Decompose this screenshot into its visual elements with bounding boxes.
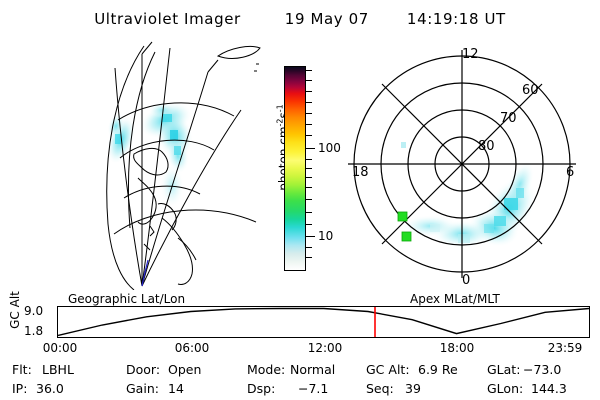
altitude-time-plot[interactable] bbox=[57, 306, 590, 338]
colorbar: photon cm-2s-1 100 10 bbox=[262, 66, 332, 286]
status-door-key: Door: bbox=[126, 362, 160, 377]
observation-time: 14:19:18 UT bbox=[407, 10, 506, 28]
status-door-value: Open bbox=[168, 362, 201, 377]
status-gain-key: Gain: bbox=[126, 381, 159, 396]
status-ip-value: 36.0 bbox=[36, 381, 64, 396]
status-filter-key: Flt: bbox=[12, 362, 32, 377]
status-glon-value: 144.3 bbox=[531, 381, 567, 396]
time-label-2: 12:00 bbox=[308, 341, 343, 355]
status-glon-key: GLon: bbox=[487, 381, 523, 396]
aurora-oval-layer bbox=[401, 142, 547, 253]
header-bar: Ultraviolet Imager 19 May 07 14:19:18 UT bbox=[0, 6, 600, 32]
colorbar-gradient[interactable] bbox=[284, 66, 306, 271]
mlat-label-80: 80 bbox=[478, 139, 495, 154]
status-row-1: Flt: LBHL Door: Open Mode: Normal GC Alt… bbox=[0, 362, 600, 381]
status-gcalt-key: GC Alt: bbox=[366, 362, 410, 377]
time-axis: 00:00 06:00 12:00 18:00 23:59 bbox=[0, 341, 600, 357]
instrument-title: Ultraviolet Imager bbox=[94, 10, 241, 28]
right-panel-title: Apex MLat/MLT bbox=[410, 292, 500, 306]
status-seq-key: Seq: bbox=[366, 381, 394, 396]
polar-svg: 12 18 6 0 60 70 80 bbox=[334, 38, 590, 290]
status-mode-value: Normal bbox=[290, 362, 335, 377]
observation-date: 19 May 07 bbox=[285, 10, 369, 28]
status-glat-value: −73.0 bbox=[523, 362, 561, 377]
mlt-label-12: 12 bbox=[462, 47, 479, 62]
status-ip-key: IP: bbox=[12, 381, 27, 396]
altitude-curve bbox=[58, 309, 589, 336]
mlat-label-60: 60 bbox=[522, 83, 539, 98]
apex-mlat-mlt-plot[interactable]: 12 18 6 0 60 70 80 bbox=[334, 38, 590, 290]
altitude-axis-label: GC Alt bbox=[8, 280, 22, 340]
mlt-label-6: 6 bbox=[566, 165, 574, 180]
mlt-label-0: 0 bbox=[462, 273, 470, 288]
status-gcalt-value: 6.9 Re bbox=[418, 362, 458, 377]
altitude-tick-low: 1.8 bbox=[24, 324, 43, 338]
status-gain-value: 14 bbox=[168, 381, 184, 396]
status-seq-value: 39 bbox=[405, 381, 421, 396]
status-dsp-key: Dsp: bbox=[247, 381, 275, 396]
app-root: Ultraviolet Imager 19 May 07 14:19:18 UT bbox=[0, 0, 600, 400]
time-label-4: 23:59 bbox=[548, 341, 583, 355]
status-mode-key: Mode: bbox=[247, 362, 285, 377]
time-label-1: 06:00 bbox=[175, 341, 210, 355]
altitude-tick-high: 9.0 bbox=[24, 304, 43, 318]
status-glat-key: GLat: bbox=[487, 362, 520, 377]
status-filter-value: LBHL bbox=[42, 362, 74, 377]
time-label-3: 18:00 bbox=[440, 341, 475, 355]
status-row-2: IP: 36.0 Gain: 14 Dsp: −7.1 Seq: 39 GLon… bbox=[0, 381, 600, 400]
altitude-curve-svg bbox=[58, 307, 589, 337]
time-label-0: 00:00 bbox=[43, 341, 78, 355]
status-panel: Flt: LBHL Door: Open Mode: Normal GC Alt… bbox=[0, 362, 600, 400]
mlat-label-70: 70 bbox=[500, 111, 517, 126]
geographic-limb-image[interactable] bbox=[58, 38, 264, 290]
mlt-spokes bbox=[348, 50, 576, 278]
left-panel-title: Geographic Lat/Lon bbox=[68, 292, 185, 306]
status-dsp-value: −7.1 bbox=[298, 381, 328, 396]
limb-svg bbox=[58, 38, 264, 290]
mlt-label-18: 18 bbox=[352, 165, 369, 180]
colorbar-tick-label-10: 10 bbox=[318, 229, 333, 243]
